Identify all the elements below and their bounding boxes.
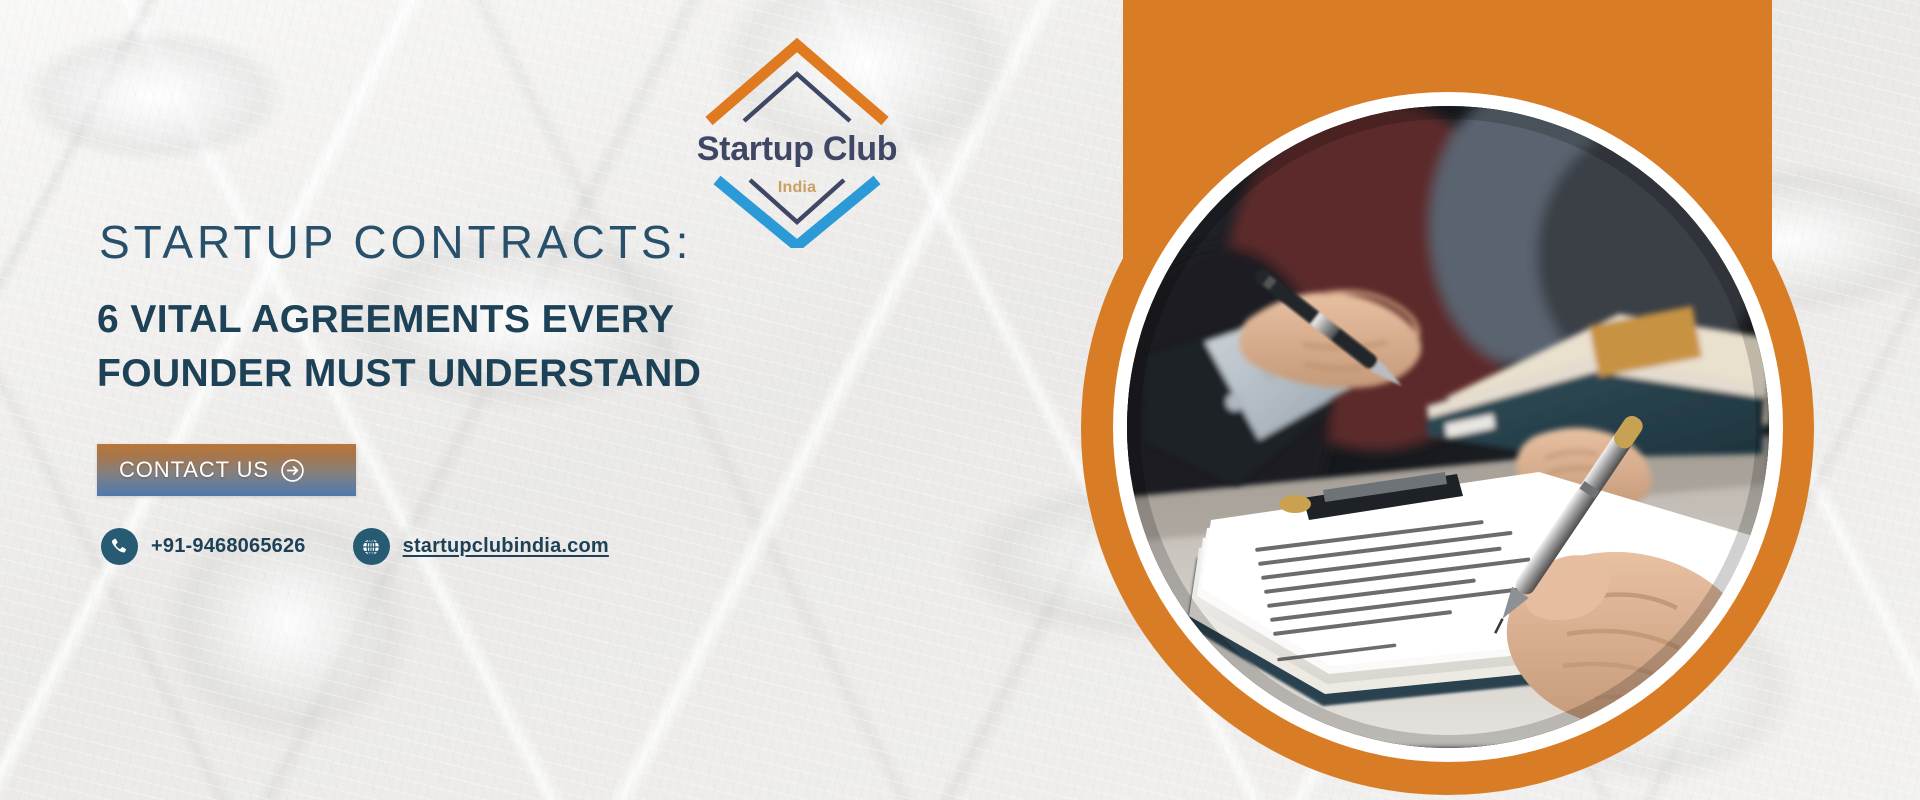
photo-illustration bbox=[1127, 106, 1769, 748]
logo-wordmark: Startup Club bbox=[684, 130, 910, 169]
right-image-panel bbox=[1123, 0, 1772, 800]
arrow-right-circle-icon bbox=[280, 458, 305, 483]
phone-number-text: +91-9468065626 bbox=[151, 535, 306, 558]
phone-contact-item[interactable]: +91-9468065626 bbox=[101, 528, 306, 565]
left-content-column: STARTUP CONTRACTS: 6 VITAL AGREEMENTS EV… bbox=[0, 0, 1120, 800]
contact-info-row: +91-9468065626 startupclubindia.com bbox=[101, 528, 609, 565]
logo-subtext-india: India bbox=[692, 179, 902, 197]
startup-club-india-logo: Startup Club India bbox=[692, 33, 902, 248]
phone-icon bbox=[101, 528, 138, 565]
website-contact-item[interactable]: startupclubindia.com bbox=[353, 528, 609, 565]
contact-us-button-label: CONTACT US bbox=[119, 457, 269, 483]
website-url-text[interactable]: startupclubindia.com bbox=[403, 535, 609, 558]
headline-line-3: FOUNDER MUST UNDERSTAND bbox=[97, 347, 701, 401]
contract-signing-photo bbox=[1127, 106, 1769, 748]
marketing-banner: STARTUP CONTRACTS: 6 VITAL AGREEMENTS EV… bbox=[0, 0, 1920, 800]
headline-line-2: 6 VITAL AGREEMENTS EVERY bbox=[97, 293, 701, 347]
contact-us-button[interactable]: CONTACT US bbox=[97, 444, 356, 496]
globe-icon bbox=[353, 528, 390, 565]
headline-subtitle: 6 VITAL AGREEMENTS EVERY FOUNDER MUST UN… bbox=[97, 293, 701, 401]
headline-line-1: STARTUP CONTRACTS: bbox=[99, 215, 692, 269]
